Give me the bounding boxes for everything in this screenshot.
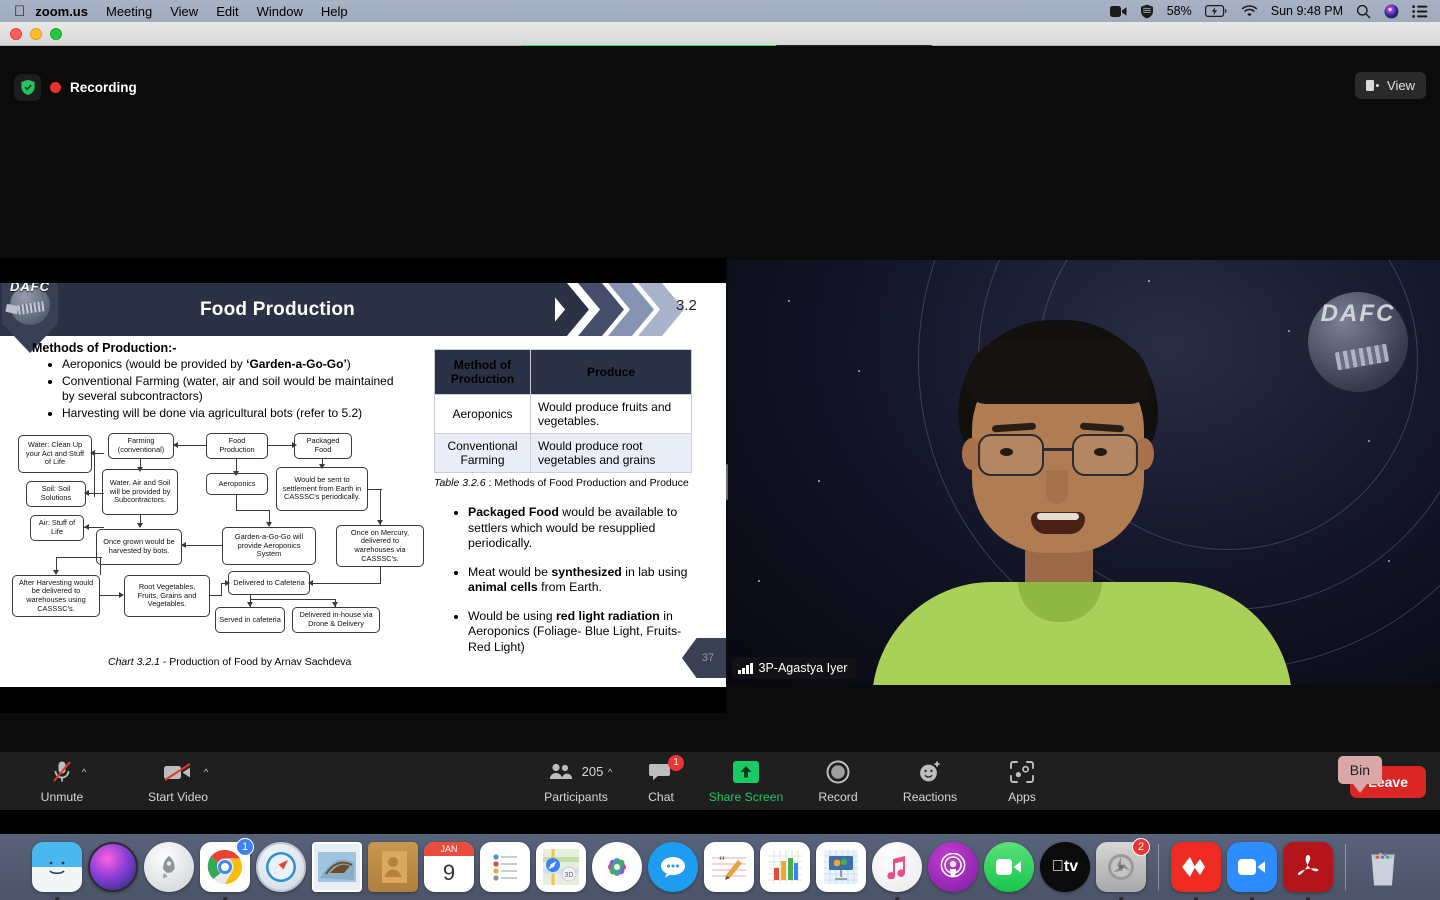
calendar-day: 9 xyxy=(424,856,474,890)
record-button[interactable]: Record xyxy=(792,759,884,804)
start-video-button[interactable]: Start Video ^ xyxy=(132,759,224,804)
slide-title: Food Production xyxy=(0,283,555,336)
chrome-badge: 1 xyxy=(236,838,254,856)
flow-node: Packaged Food xyxy=(294,433,352,459)
menu-item-zoom-us[interactable]: zoom.us xyxy=(35,4,88,19)
chat-unread-badge: 1 xyxy=(668,755,684,771)
zoom-toolbar: Unmute ^ Start Video ^ xyxy=(0,752,1440,810)
participants-label: Participants xyxy=(544,790,608,804)
dock-item-reminders[interactable] xyxy=(480,842,530,892)
start-video-label: Start Video xyxy=(148,790,208,804)
record-label: Record xyxy=(818,790,857,804)
chart-caption-text: - Production of Food by Arnav Sachdeva xyxy=(160,656,351,668)
methods-heading: Methods of Production:- xyxy=(32,341,176,355)
video-camera-muted-icon xyxy=(163,759,193,785)
flow-node: Soil: Soil Solutions xyxy=(26,481,86,507)
view-button-label: View xyxy=(1387,78,1415,93)
dock-item-numbers[interactable] xyxy=(760,842,810,892)
dock-item-facetime[interactable] xyxy=(984,842,1034,892)
apps-button[interactable]: Apps xyxy=(976,759,1068,804)
table-cell: Would produce root vegetables and grains xyxy=(531,434,692,473)
food-production-flowchart: Water: Clean Up your Act and Stuff of Li… xyxy=(0,431,430,661)
menu-item-window[interactable]: Window xyxy=(257,4,303,19)
minimize-icon[interactable] xyxy=(30,28,42,40)
dock-item-safari[interactable] xyxy=(256,842,306,892)
list-item: Meat would be synthesized in lab using a… xyxy=(468,565,700,596)
dock-item-trash[interactable] xyxy=(1358,842,1408,892)
produce-table: Method of Production Produce Aeroponics … xyxy=(434,349,692,473)
recording-label: Recording xyxy=(70,80,137,95)
apps-label: Apps xyxy=(1008,790,1036,804)
flow-node: Garden-a-Go-Go will provide Aeroponics S… xyxy=(222,527,316,565)
dock-item-chrome[interactable]: 1 xyxy=(200,842,250,892)
svg-text:3D: 3D xyxy=(565,872,574,879)
chat-button[interactable]: 1 Chat xyxy=(622,759,700,804)
participants-chevron-icon[interactable]: ^ xyxy=(608,767,612,777)
participants-button[interactable]: 205 Participants ^ xyxy=(530,759,622,804)
dock-item-system-preferences[interactable]: 2 xyxy=(1096,842,1146,892)
right-bullet-list: Packaged Food would be available to sett… xyxy=(450,505,700,668)
menu-item-meeting[interactable]: Meeting xyxy=(106,4,152,19)
unmute-button[interactable]: Unmute ^ xyxy=(16,759,108,804)
chat-label: Chat xyxy=(648,790,674,804)
participants-count: 205 xyxy=(582,764,604,779)
table-header-row: Method of Production Produce xyxy=(435,350,692,395)
chat-icon: 1 xyxy=(649,759,673,785)
flow-node: Water: Clean Up your Act and Stuff of Li… xyxy=(18,435,92,473)
dock-item-podcasts[interactable] xyxy=(928,842,978,892)
dock-item-anydesk[interactable] xyxy=(1171,842,1221,892)
control-center-icon[interactable] xyxy=(1412,5,1428,18)
siri-icon[interactable] xyxy=(1384,4,1399,19)
flow-node: Aeroponics xyxy=(206,473,268,495)
recording-dot-icon xyxy=(50,82,61,93)
participant-figure xyxy=(930,320,1230,685)
list-item: Conventional Farming (water, air and soi… xyxy=(62,374,404,405)
reactions-icon xyxy=(918,759,942,785)
dock-item-zoom[interactable] xyxy=(1227,842,1277,892)
table-header-cell: Method of Production xyxy=(435,350,531,395)
shield-icon[interactable] xyxy=(1140,4,1154,19)
dock-divider xyxy=(1345,844,1346,890)
dock-divider xyxy=(1158,844,1159,890)
flow-node: After Harvesting would be delivered to w… xyxy=(12,575,100,617)
menu-item-view[interactable]: View xyxy=(170,4,198,19)
calendar-month: JAN xyxy=(424,842,474,856)
flow-node: Water, Air and Soil will be provided by … xyxy=(102,469,178,515)
table-header-cell: Produce xyxy=(531,350,692,395)
flow-node: Delivered to Cafeteria xyxy=(228,571,310,595)
dock-item-messages[interactable] xyxy=(648,842,698,892)
window-controls xyxy=(10,28,62,40)
unmute-label: Unmute xyxy=(41,790,84,804)
shared-screen-area[interactable]: Food Production 3.2 DAFC Methods of Prod xyxy=(0,258,726,713)
apple-icon[interactable]:  xyxy=(14,4,25,19)
microphone-muted-icon xyxy=(52,759,72,785)
menu-item-edit[interactable]: Edit xyxy=(216,4,238,19)
participant-video-tile[interactable]: DAFC xyxy=(728,260,1440,685)
window-titlebar xyxy=(0,22,1440,46)
slide-header: Food Production 3.2 xyxy=(0,283,726,336)
dock-item-pages[interactable]: “ xyxy=(704,842,754,892)
participant-name-badge: 3P-Agastya Iyer xyxy=(732,657,856,679)
macos-menubar:  zoom.us Meeting View Edit Window Help … xyxy=(0,0,1440,22)
layout-icon xyxy=(1366,79,1380,92)
flow-node: Once grown would be harvested by bots. xyxy=(96,529,182,565)
chart-caption: Chart 3.2.1 - Production of Food by Arna… xyxy=(108,656,351,668)
slide-section-number: 3.2 xyxy=(676,297,697,314)
chart-caption-label: Chart 3.2.1 xyxy=(108,656,160,668)
dock-item-mail[interactable] xyxy=(312,842,362,892)
system-preferences-badge: 2 xyxy=(1132,838,1150,856)
security-shield-icon[interactable] xyxy=(14,74,41,101)
bin-tooltip: Bin xyxy=(1338,756,1382,784)
dock-item-photos[interactable] xyxy=(592,842,642,892)
flow-node: Food Production xyxy=(206,433,268,459)
dock-item-finder[interactable] xyxy=(32,842,82,892)
video-camera-icon[interactable] xyxy=(1110,5,1127,18)
view-layout-button[interactable]: View xyxy=(1355,72,1426,99)
dock-item-keynote[interactable] xyxy=(816,842,866,892)
maximize-icon[interactable] xyxy=(50,28,62,40)
table-caption: Table 3.2.6 : Methods of Food Production… xyxy=(434,477,689,489)
dock-item-launchpad[interactable] xyxy=(144,842,194,892)
list-item: Would be using red light radiation in Ae… xyxy=(468,609,700,656)
dock-item-calendar[interactable]: JAN 9 xyxy=(424,842,474,892)
zoom-window: You are viewing 3P - Kaashvi's screen Vi… xyxy=(0,22,1440,834)
table-caption-label: Table 3.2.6 xyxy=(434,477,486,489)
macos-dock: 1 JAN 9 3D “ xyxy=(0,834,1440,900)
reactions-button[interactable]: Reactions xyxy=(884,759,976,804)
flow-node: Would be sent to settlement from Earth i… xyxy=(276,467,368,511)
share-screen-icon xyxy=(733,759,759,785)
menubar-clock[interactable]: Sun 9:48 PM xyxy=(1271,4,1343,18)
dock-item-apple-tv[interactable]: tv xyxy=(1040,842,1090,892)
table-row: Aeroponics Would produce fruits and vege… xyxy=(435,395,692,434)
flow-node: Served in cafeteria xyxy=(215,607,285,633)
participants-icon: 205 xyxy=(549,759,604,785)
share-screen-button[interactable]: Share Screen xyxy=(700,759,792,804)
share-screen-label: Share Screen xyxy=(709,790,784,804)
flow-node: Once on Mercury, delivered to warehouses… xyxy=(336,525,424,567)
table-cell: Aeroponics xyxy=(435,395,531,434)
wifi-icon[interactable] xyxy=(1241,5,1258,18)
list-item: Harvesting will be done via agricultural… xyxy=(62,406,404,422)
video-options-chevron-icon[interactable]: ^ xyxy=(204,767,208,777)
methods-list: Aeroponics (would be provided by ‘Garden… xyxy=(44,357,404,422)
table-cell: Would produce fruits and vegetables. xyxy=(531,395,692,434)
dock-item-siri[interactable] xyxy=(88,842,138,892)
flow-node: Delivered in-house via Drone & Delivery xyxy=(292,607,380,633)
presentation-slide: Food Production 3.2 DAFC Methods of Prod xyxy=(0,283,726,687)
table-caption-text: : Methods of Food Production and Produce xyxy=(486,477,689,489)
search-icon[interactable] xyxy=(1356,4,1371,19)
participant-name: 3P-Agastya Iyer xyxy=(759,661,848,675)
svg-text:“: “ xyxy=(719,854,725,869)
list-item: Packaged Food would be available to sett… xyxy=(468,505,700,552)
close-icon[interactable] xyxy=(10,28,22,40)
menu-item-help[interactable]: Help xyxy=(321,4,348,19)
table-cell: Conventional Farming xyxy=(435,434,531,473)
signal-bars-icon xyxy=(738,663,753,674)
apps-icon xyxy=(1010,759,1034,785)
flow-node: Root Vegetables, Fruits, Grains and Vege… xyxy=(124,575,210,617)
flow-node: Farming (conventional) xyxy=(108,433,174,459)
battery-percent: 58% xyxy=(1167,4,1192,18)
flow-node: Air: Stuff of Life xyxy=(30,515,84,541)
dock-item-music[interactable] xyxy=(872,842,922,892)
battery-charging-icon[interactable] xyxy=(1205,5,1228,17)
dock-item-acrobat-reader[interactable] xyxy=(1283,842,1333,892)
dock-item-contacts[interactable] xyxy=(368,842,418,892)
table-row: Conventional Farming Would produce root … xyxy=(435,434,692,473)
dafc-watermark-text: DAFC xyxy=(1321,300,1396,328)
dafc-logo-text: DAFC xyxy=(10,283,50,294)
zoom-content-area: Recording View Food Production xyxy=(0,46,1440,810)
list-item: Aeroponics (would be provided by ‘Garden… xyxy=(62,357,404,373)
reactions-label: Reactions xyxy=(903,790,957,804)
recording-indicator[interactable]: Recording xyxy=(14,74,137,101)
dafc-watermark: DAFC xyxy=(1308,292,1408,392)
screen-root:  zoom.us Meeting View Edit Window Help … xyxy=(0,0,1440,900)
mic-options-chevron-icon[interactable]: ^ xyxy=(82,767,86,777)
record-icon xyxy=(826,759,850,785)
dock-item-maps[interactable]: 3D xyxy=(536,842,586,892)
